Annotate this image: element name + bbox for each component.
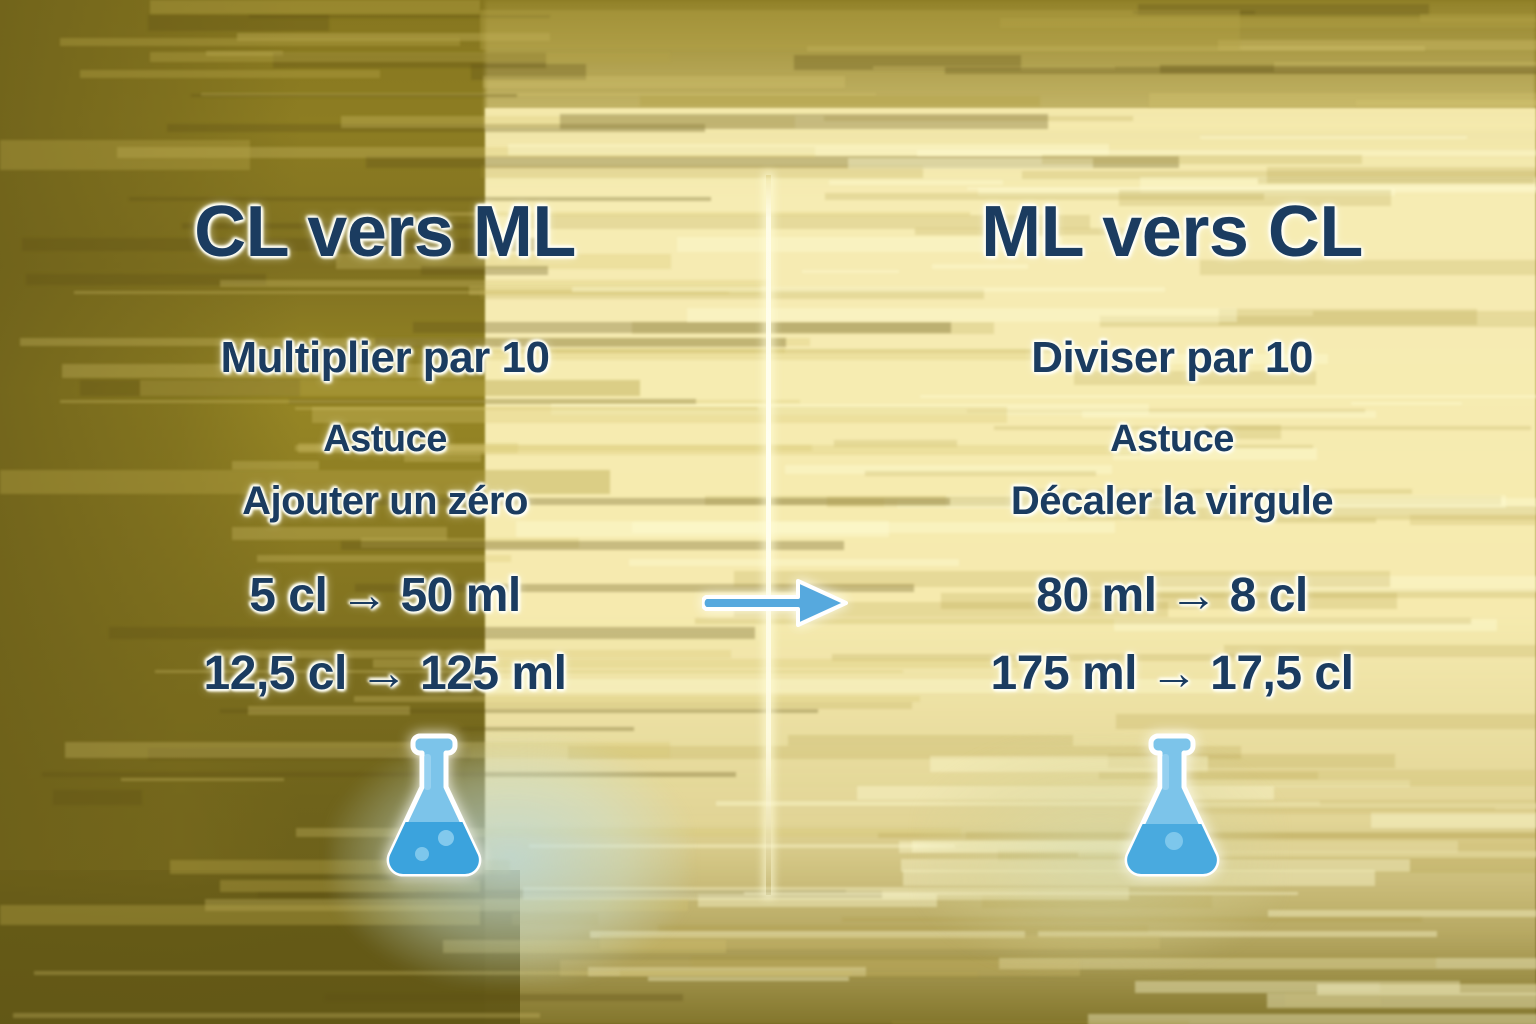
tip-text-cl-to-ml: Ajouter un zéro: [242, 481, 528, 521]
erlenmeyer-flask-icon-right: [1106, 726, 1238, 886]
example-cl-to-ml-2: 12,5 cl → 125 ml: [204, 650, 567, 698]
rule-cl-to-ml: Multiplier par 10: [221, 336, 550, 380]
heading-cl-to-ml: CL vers ML: [194, 196, 576, 268]
rule-ml-to-cl: Diviser par 10: [1031, 336, 1313, 380]
columns-container: CL vers ML Multiplier par 10 Astuce Ajou…: [0, 0, 1536, 1024]
example-ml-to-cl-1: 80 ml → 8 cl: [1036, 572, 1307, 620]
panel-ml-to-cl: ML vers CL Diviser par 10 Astuce Décaler…: [768, 0, 1536, 1024]
infographic-canvas: CL vers ML Multiplier par 10 Astuce Ajou…: [0, 0, 1536, 1024]
tip-label-ml-to-cl: Astuce: [1110, 420, 1234, 458]
erlenmeyer-flask-icon-left: [368, 726, 500, 886]
tip-text-ml-to-cl: Décaler la virgule: [1011, 481, 1333, 521]
panel-cl-to-ml: CL vers ML Multiplier par 10 Astuce Ajou…: [0, 0, 768, 1024]
heading-ml-to-cl: ML vers CL: [981, 196, 1363, 268]
example-cl-to-ml-1: 5 cl → 50 ml: [249, 572, 520, 620]
tip-label-cl-to-ml: Astuce: [323, 420, 447, 458]
right-arrow-icon: [702, 572, 852, 634]
example-ml-to-cl-2: 175 ml → 17,5 cl: [991, 650, 1354, 698]
